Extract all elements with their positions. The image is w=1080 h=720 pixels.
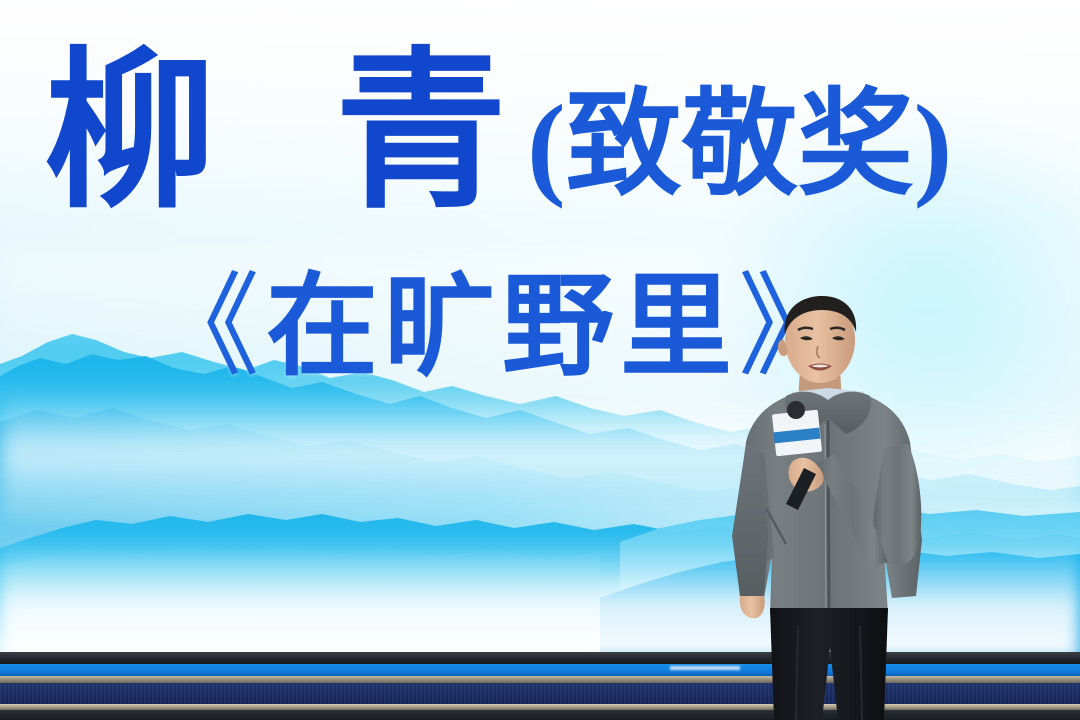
speaker-figure xyxy=(712,296,942,720)
stage-photograph: 柳 青 (致敬奖) 《在旷野里》 xyxy=(0,0,1080,720)
microphone-head xyxy=(787,401,805,419)
trousers xyxy=(770,608,888,720)
jacket-zip xyxy=(828,420,829,614)
hand-right xyxy=(740,596,765,618)
title-line-one: 柳 青 (致敬奖) xyxy=(44,48,952,220)
award-category-label: (致敬奖) xyxy=(527,88,952,204)
laureate-name: 柳 青 xyxy=(44,48,545,220)
book-bracket-open-icon: 《 xyxy=(148,266,266,390)
work-title: 在旷野里 xyxy=(266,266,738,390)
